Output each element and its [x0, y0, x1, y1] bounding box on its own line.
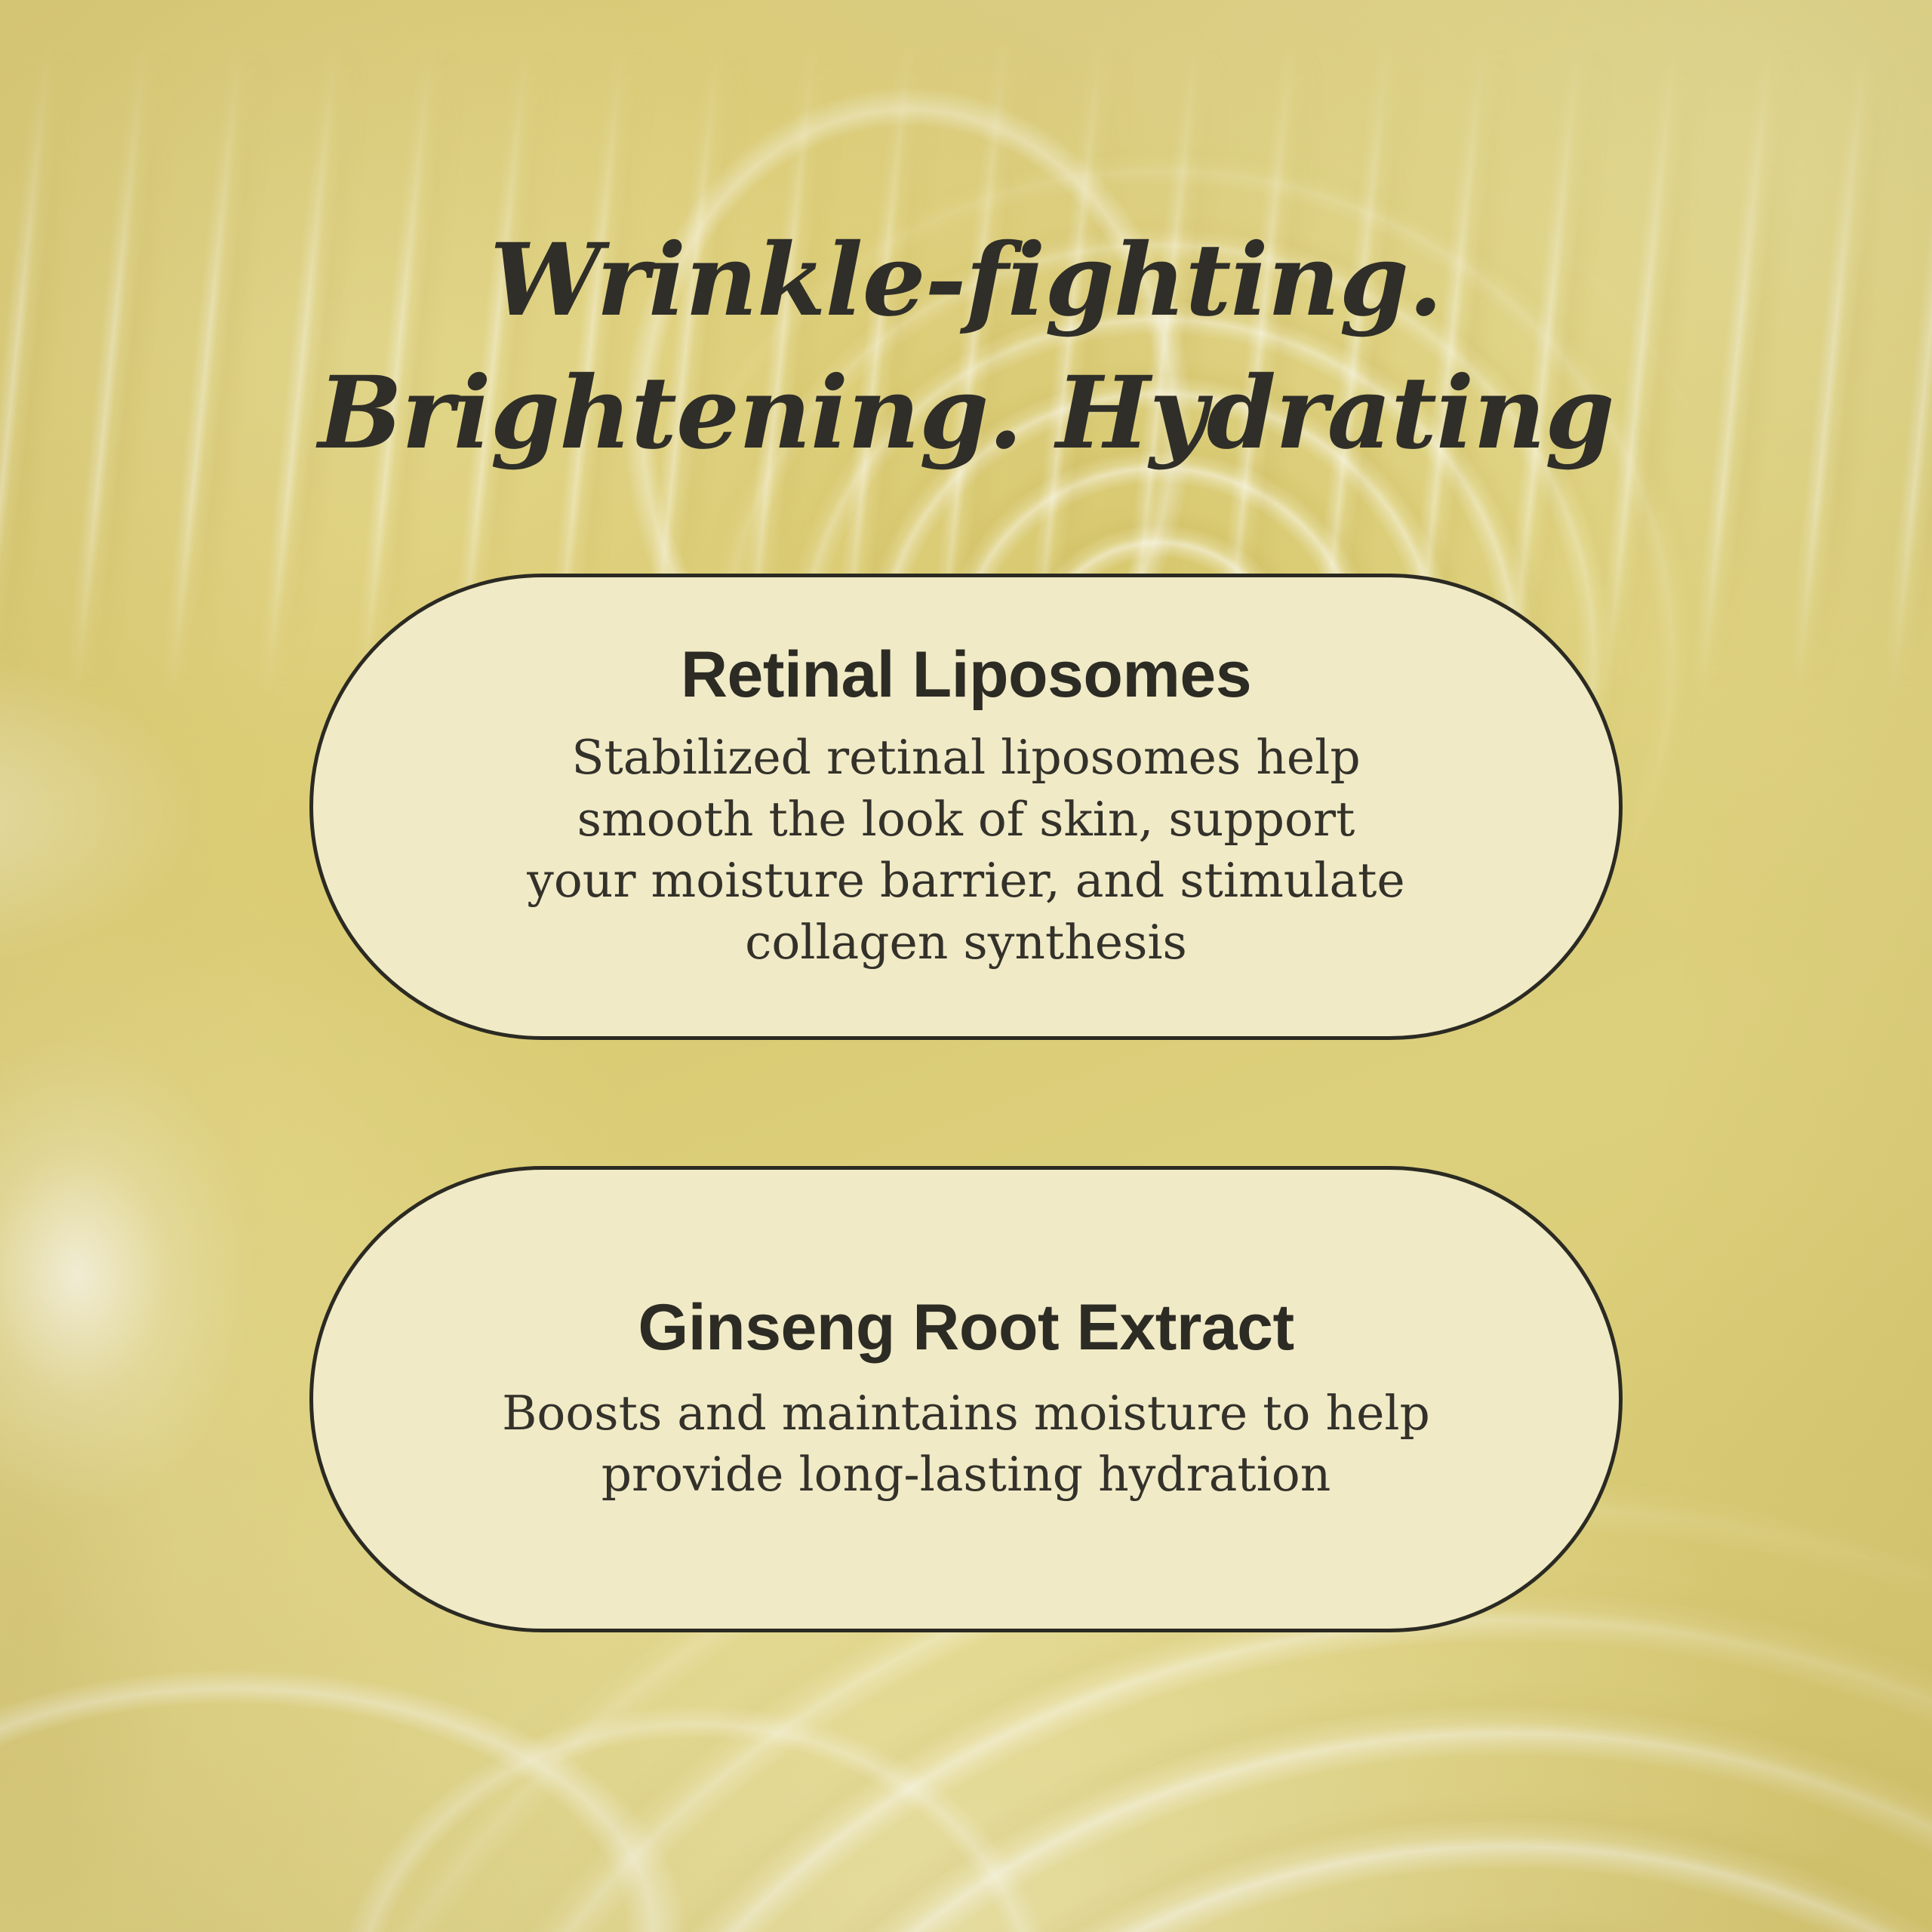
ingredient-card-ginseng-root-extract: Ginseng Root Extract Boosts and maintain… [309, 1166, 1623, 1632]
ingredient-title: Retinal Liposomes [681, 640, 1251, 710]
page-title-line-1: Wrinkle-fighting. [0, 214, 1932, 347]
ingredient-title: Ginseng Root Extract [638, 1293, 1294, 1363]
ingredient-description: Stabilized retinal liposomes help smooth… [521, 727, 1411, 974]
ingredient-description: Boosts and maintains moisture to help pr… [491, 1383, 1441, 1506]
page-title: Wrinkle-fighting. Brightening. Hydrating [0, 214, 1932, 479]
page-title-line-2: Brightening. Hydrating [0, 347, 1932, 480]
ingredient-card-retinal-liposomes: Retinal Liposomes Stabilized retinal lip… [309, 574, 1623, 1040]
product-benefits-graphic: Wrinkle-fighting. Brightening. Hydrating… [0, 0, 1932, 1932]
